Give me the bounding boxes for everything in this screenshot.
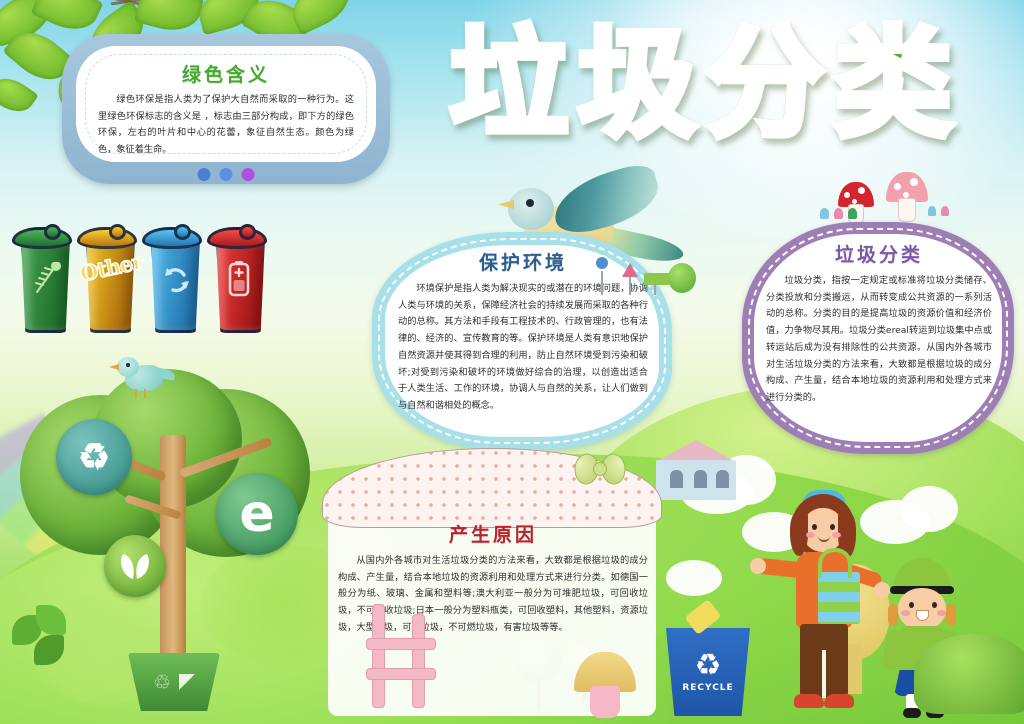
child-eye-r [932,602,937,608]
eco-tree-illustration: ♻ e ♲ [20,395,310,724]
section-title-waste-sorting: 垃圾分类 [766,240,992,267]
recycle-arrows-icon [159,259,193,299]
clover-cluster [12,605,102,675]
title-char-2: 圾 [578,25,698,143]
tv-indicator-dots [198,168,255,181]
other-waste-bin[interactable]: Other [81,225,141,341]
recycle-token-glyph: ♻ [78,436,110,478]
woman-hand-left [750,558,766,574]
title-char-1: 垃 [450,25,570,143]
tv-dot-purple [242,168,255,181]
eco-e-token-glyph: e [239,484,274,544]
title-char-3: 分 [706,25,826,143]
leaf-icon [134,0,204,37]
tiny-mushroom-row-right [928,206,949,216]
recycle-bin[interactable]: ♻ RECYCLE [666,628,750,716]
small-bird-illustration [115,355,175,399]
street-sign-cluster [588,255,674,299]
section-body-waste-sorting: 垃圾分类，指按一定规定或标准将垃圾分类储存、分类投放和分类搬运，从而转变成公共资… [766,273,992,407]
woman-figure [762,490,880,720]
section-title-green-meaning: 绿色含义 [98,60,354,87]
child-braid-r [946,604,956,626]
woman-leg-gap [822,650,826,698]
mushroom-pink-icon [886,172,928,222]
section-body-protect-environment: 环境保护是指人类为解决现实的或潜在的环境问题，协调人类与环境的关系，保障经济社会… [398,281,648,415]
tv-screen: 绿色含义 绿色环保是指人类为了保护大自然而采取的一种行为。这里绿色环保标志的含义… [76,46,376,162]
woman-cheek-l [806,532,815,538]
child-braid-l [888,604,898,626]
tote-strap [818,548,852,578]
section-waste-sorting: 垃圾分类 垃圾分类，指按一定规定或标准将垃圾分类储存、分类投放和分类搬运，从而转… [742,222,1014,454]
child-eye-l [909,602,914,608]
woman-shoe-l [794,694,824,708]
section-title-causes: 产生原因 [338,520,648,547]
tree-planter-box: ♲ [128,653,220,711]
tv-dot-blue-2 [220,168,233,181]
bow-icon [574,452,626,486]
pink-fence [366,604,444,714]
section-green-meaning: 绿色含义 绿色环保是指人类为了保护大自然而采取的一种行为。这里绿色环保标志的含义… [62,34,390,184]
poster-canvas: 垃 圾 分 类 绿色含义 绿色环保是指人类为了保护大自然而采取的一种行为。这里绿… [0,0,1024,724]
leaf-icon [0,70,39,120]
child-cheek-l [901,610,910,616]
tv-dot-blue-1 [198,168,211,181]
child-cheek-r [937,610,946,616]
big-mushroom-illustration [574,652,636,718]
child-shoe-l [903,708,921,718]
bird-beak [498,200,514,209]
recyclable-bin[interactable] [146,225,206,341]
people-recycling-scene: ♻ RECYCLE [644,434,1024,724]
section-body-green-meaning: 绿色环保是指人类为了保护大自然而采取的一种行为。这里绿色环保标志的含义是 ，标志… [98,92,354,159]
fishbone-icon [29,259,63,299]
wet-waste-bin[interactable] [16,225,76,341]
trash-bin-group: Other [12,225,277,345]
page-title: 垃 圾 分 类 [392,16,1012,152]
woman-shoe-r [824,694,854,708]
bush-right [914,634,1024,714]
tiny-mushroom-row [820,208,857,219]
eco-e-token[interactable]: e [216,473,298,555]
recycle-bin-label: RECYCLE [682,683,733,693]
woman-eye-l [812,524,817,530]
bird-eye [526,199,534,207]
battery-icon [222,259,256,299]
woman-eye-r [830,524,835,530]
woman-cheek-r [832,532,841,538]
leaves-token[interactable] [104,535,166,597]
tote-bag [818,572,860,624]
recycle-symbol-icon: ♻ [695,651,722,681]
planter-recycle-icon: ♲ [153,670,171,695]
title-char-4: 类 [834,25,954,143]
recycle-token[interactable]: ♻ [56,419,132,495]
planter-flag-icon [179,674,195,690]
hazardous-bin[interactable] [211,225,271,341]
child-face [898,588,946,630]
bird-head [508,188,554,230]
two-leaves-icon [115,551,155,581]
